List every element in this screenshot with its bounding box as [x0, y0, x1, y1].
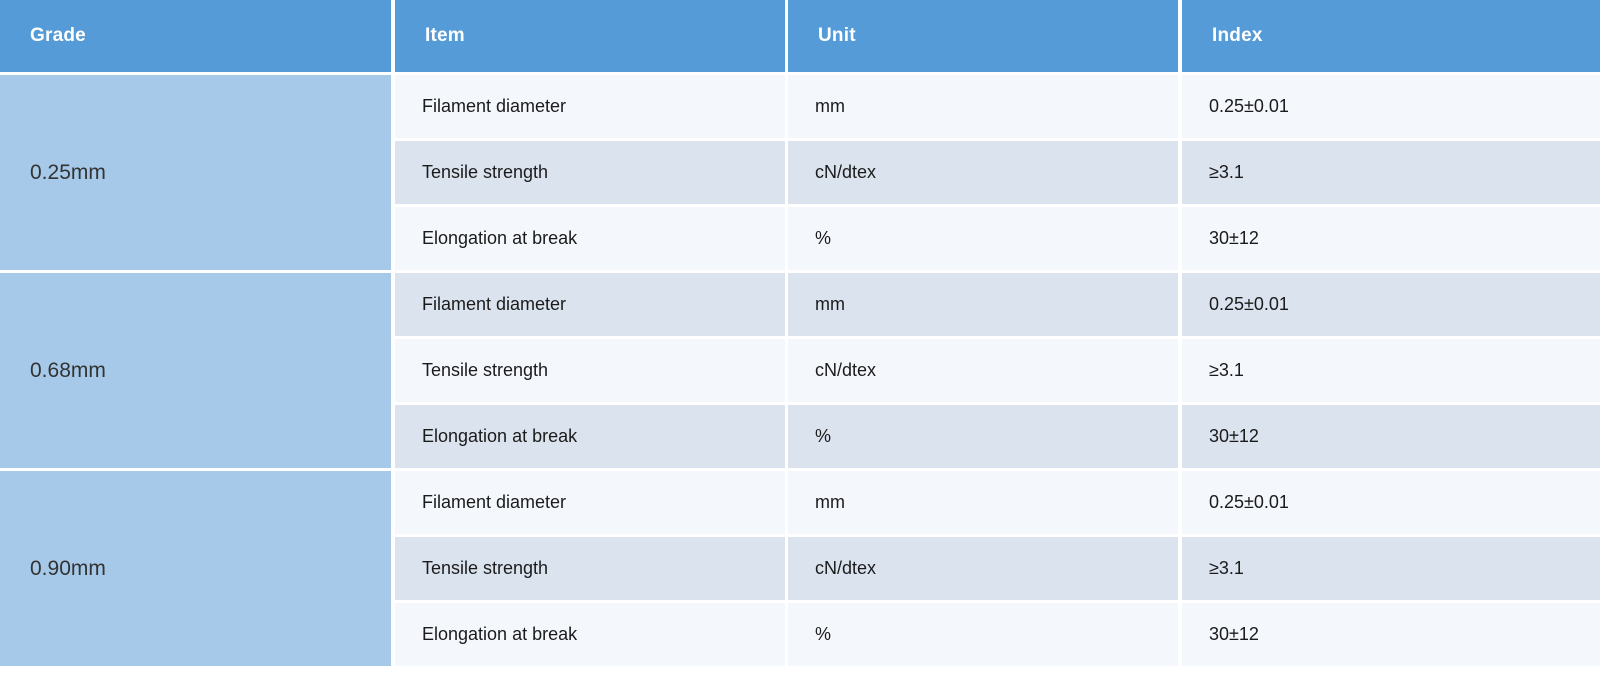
grade-cell: 0.68mm: [0, 270, 391, 468]
item-cell: Filament diameter: [395, 270, 785, 336]
item-cell: Elongation at break: [395, 600, 785, 666]
table-row: 0.90mmFilament diametermm0.25±0.01: [0, 468, 1600, 534]
specification-table: Grade Item Unit Index 0.25mmFilament dia…: [0, 0, 1600, 666]
index-cell: ≥3.1: [1182, 534, 1600, 600]
unit-cell: %: [788, 402, 1178, 468]
header-row: Grade Item Unit Index: [0, 0, 1600, 72]
unit-cell: %: [788, 600, 1178, 666]
item-cell: Tensile strength: [395, 534, 785, 600]
item-cell: Elongation at break: [395, 204, 785, 270]
table-row: 0.68mmFilament diametermm0.25±0.01: [0, 270, 1600, 336]
item-cell: Tensile strength: [395, 138, 785, 204]
unit-cell: %: [788, 204, 1178, 270]
index-cell: 30±12: [1182, 402, 1600, 468]
grade-cell: 0.25mm: [0, 72, 391, 270]
column-header-index[interactable]: Index: [1182, 0, 1600, 72]
unit-cell: mm: [788, 468, 1178, 534]
unit-cell: mm: [788, 72, 1178, 138]
column-header-unit[interactable]: Unit: [788, 0, 1178, 72]
table-row: 0.25mmFilament diametermm0.25±0.01: [0, 72, 1600, 138]
index-cell: 0.25±0.01: [1182, 72, 1600, 138]
item-cell: Filament diameter: [395, 72, 785, 138]
unit-cell: cN/dtex: [788, 336, 1178, 402]
index-cell: 30±12: [1182, 204, 1600, 270]
item-cell: Filament diameter: [395, 468, 785, 534]
grade-cell: 0.90mm: [0, 468, 391, 666]
unit-cell: cN/dtex: [788, 534, 1178, 600]
column-header-grade[interactable]: Grade: [0, 0, 391, 72]
unit-cell: mm: [788, 270, 1178, 336]
table-body: 0.25mmFilament diametermm0.25±0.01Tensil…: [0, 72, 1600, 666]
table-header: Grade Item Unit Index: [0, 0, 1600, 72]
index-cell: 30±12: [1182, 600, 1600, 666]
index-cell: ≥3.1: [1182, 336, 1600, 402]
index-cell: 0.25±0.01: [1182, 270, 1600, 336]
column-header-item[interactable]: Item: [395, 0, 785, 72]
item-cell: Tensile strength: [395, 336, 785, 402]
item-cell: Elongation at break: [395, 402, 785, 468]
index-cell: ≥3.1: [1182, 138, 1600, 204]
index-cell: 0.25±0.01: [1182, 468, 1600, 534]
unit-cell: cN/dtex: [788, 138, 1178, 204]
